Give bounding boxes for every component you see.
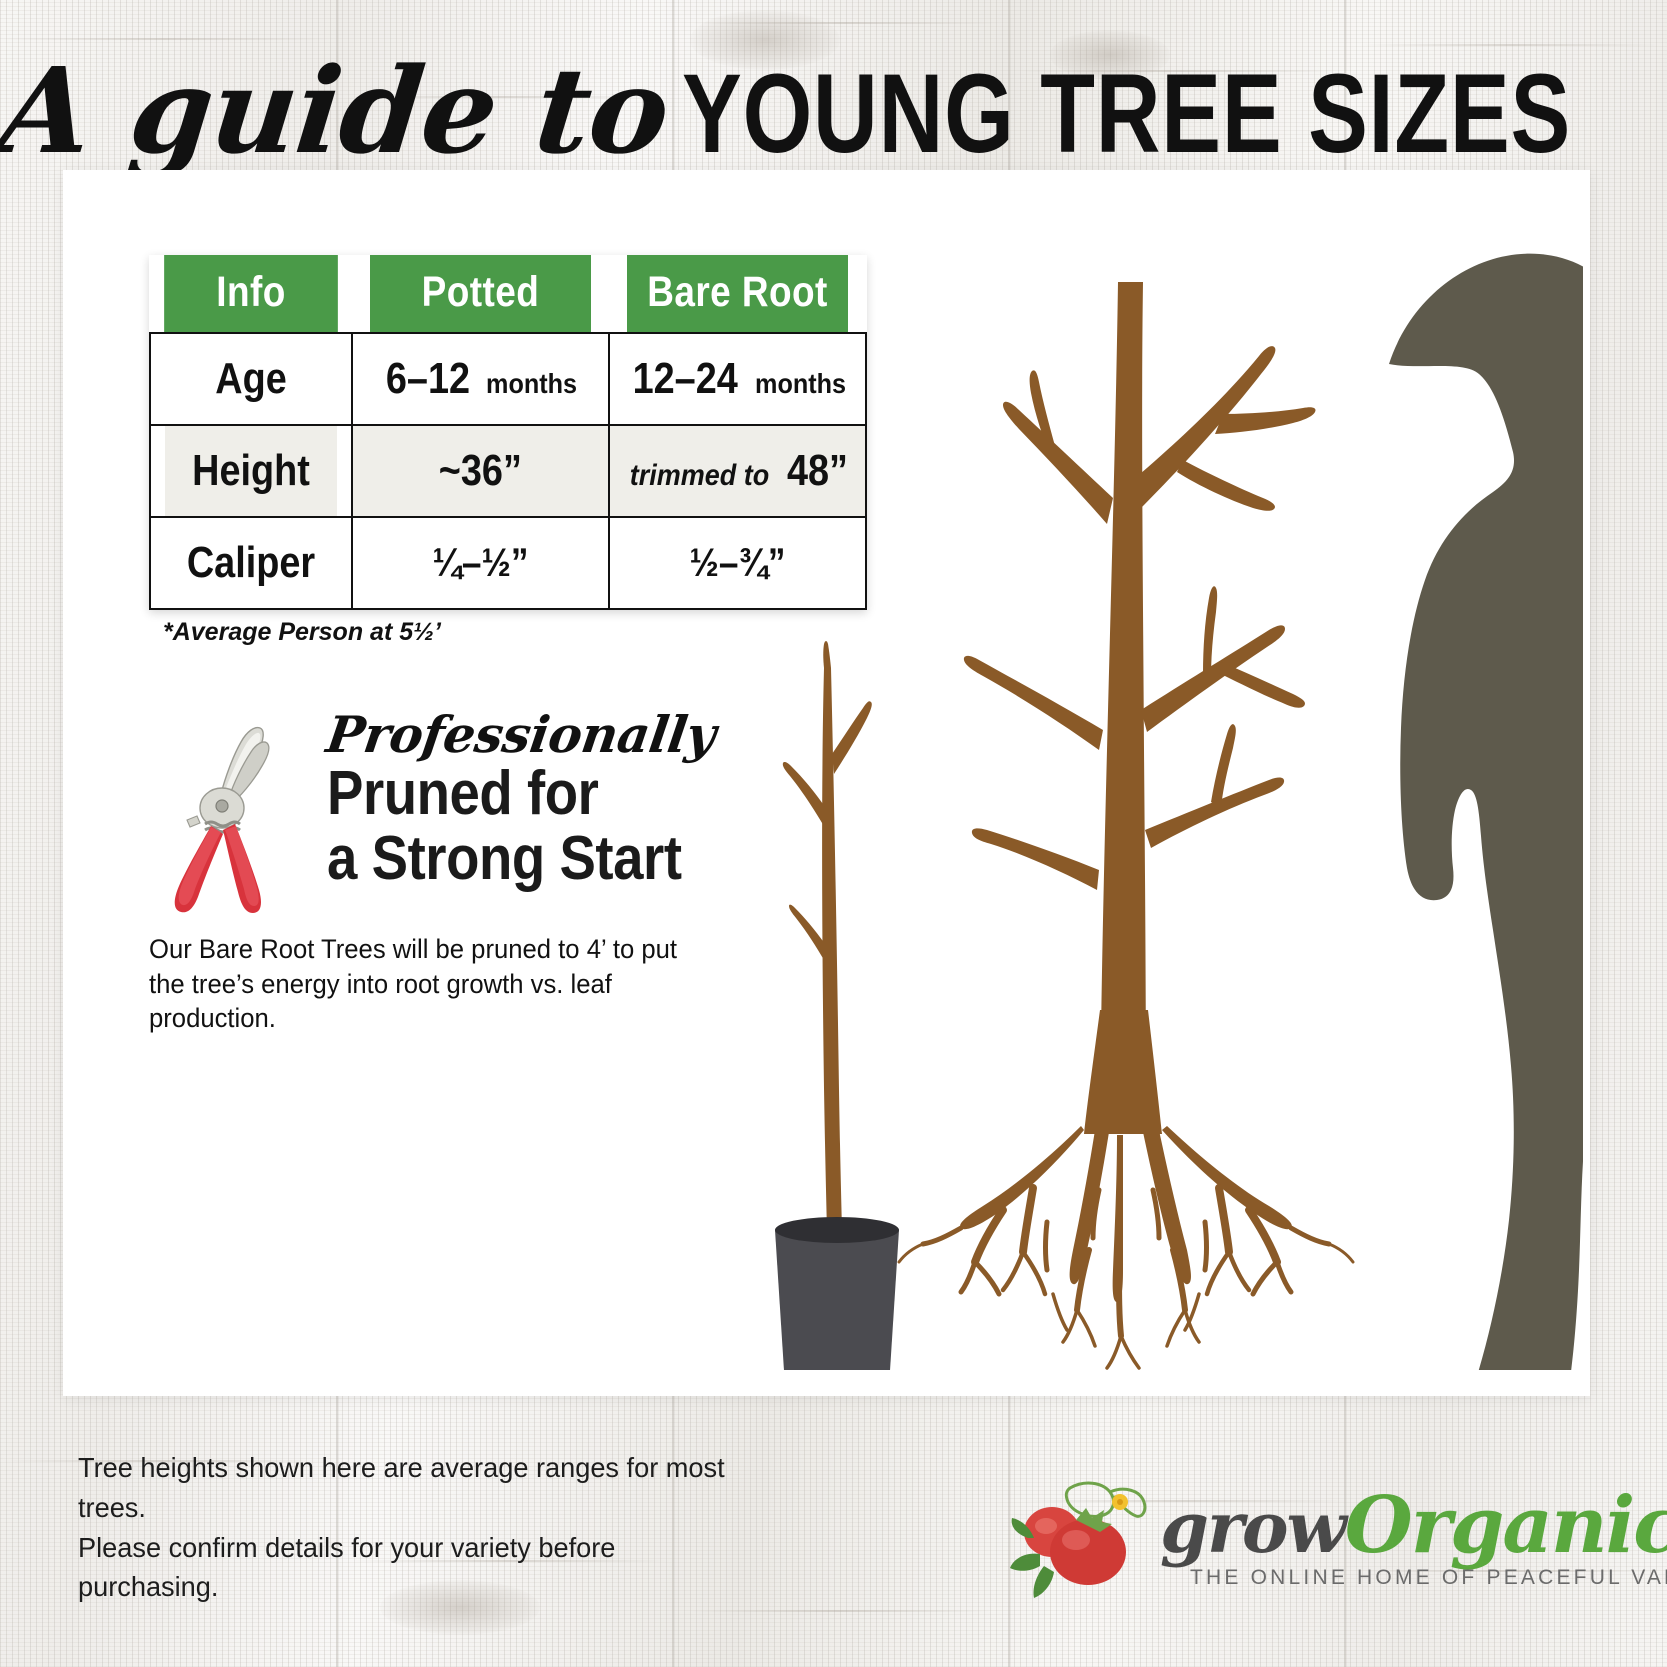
age-potted-unit: months — [486, 368, 577, 400]
table-footnote: *Average Person at 5½’ — [163, 618, 441, 647]
pruning-script-line: Professionally — [323, 710, 718, 760]
bare-root-tree — [899, 282, 1353, 1368]
wood-grain — [690, 1610, 990, 1612]
grow-organic-logo[interactable]: growOrganic.COM THE ONLINE HOME OF PEACE… — [1010, 1474, 1590, 1602]
pruning-headline-group: Professionally Pruned for a Strong Start — [327, 710, 757, 890]
cell-height-potted: ~36” — [352, 425, 609, 517]
pruning-headline-line1: Pruned for — [327, 762, 705, 825]
wood-grain — [0, 38, 330, 40]
age-potted-value: 6–12 — [386, 354, 470, 404]
wood-grain — [1360, 44, 1660, 46]
pruning-headline-line2: a Strong Start — [327, 827, 705, 890]
content-card: Info Potted Bare Root Age 6–12 months 12… — [63, 170, 1590, 1396]
root-system — [899, 1126, 1353, 1368]
pruning-body-text: Our Bare Root Trees will be pruned to 4’… — [149, 932, 738, 1036]
row-label-height: Height — [164, 425, 338, 517]
tomato-vine-icon — [1010, 1476, 1160, 1600]
disclaimer-line2: Please confirm details for your variety … — [78, 1528, 757, 1608]
page-title: A guide toYOUNG TREE SIZES — [0, 52, 1667, 170]
potted-tree — [775, 641, 899, 1370]
logo-organic-text: Organic — [1345, 1480, 1667, 1571]
disclaimer-line1: Tree heights shown here are average rang… — [78, 1448, 757, 1528]
cell-age-potted: 6–12 months — [352, 333, 609, 425]
column-header-potted: Potted — [370, 255, 591, 333]
page-title-block: YOUNG TREE SIZES — [682, 58, 1571, 170]
page-title-script: A guide to — [0, 52, 674, 170]
footer-disclaimer: Tree heights shown here are average rang… — [78, 1448, 757, 1607]
person-silhouette — [1389, 254, 1583, 1370]
column-header-info: Info — [164, 255, 338, 333]
cell-caliper-potted: ¼–½” — [352, 517, 609, 609]
row-label-age: Age — [164, 333, 338, 425]
tree-size-illustration-group — [703, 230, 1583, 1370]
caliper-potted-value: ¼–½” — [433, 541, 529, 586]
logo-grow-text: grow — [1160, 1486, 1345, 1569]
pruning-body-line1: Our Bare Root Trees will be pruned to 4’… — [149, 932, 738, 967]
height-potted-value: ~36” — [439, 446, 522, 496]
pruning-shears-icon — [159, 720, 309, 920]
pruning-body-line2: the tree’s energy into root growth vs. l… — [149, 967, 738, 1036]
row-label-caliper: Caliper — [164, 517, 338, 609]
logo-tagline: THE ONLINE HOME OF PEACEFUL VALLEY — [1190, 1566, 1667, 1590]
